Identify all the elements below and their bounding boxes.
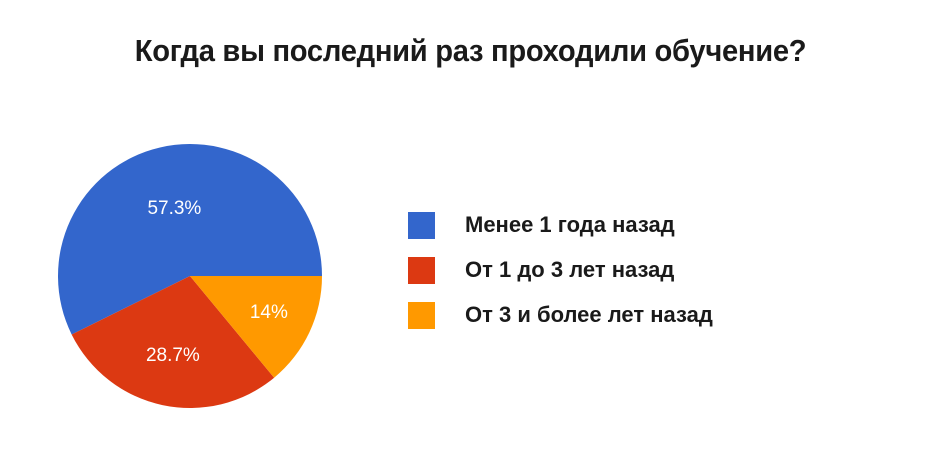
legend-swatch-red bbox=[408, 257, 435, 284]
chart-legend: Менее 1 года назад От 1 до 3 лет назад О… bbox=[408, 210, 713, 330]
legend-item-less-than-1-year[interactable]: Менее 1 года назад bbox=[408, 210, 713, 240]
pie-label-blue: 57.3% bbox=[147, 198, 201, 219]
legend-label-3-or-more-years: От 3 и более лет назад bbox=[465, 302, 713, 328]
pie-label-orange: 14% bbox=[250, 302, 288, 323]
legend-item-1-to-3-years[interactable]: От 1 до 3 лет назад bbox=[408, 255, 713, 285]
page-title: Когда вы последний раз проходили обучени… bbox=[28, 33, 913, 69]
legend-label-1-to-3-years: От 1 до 3 лет назад bbox=[465, 257, 674, 283]
pie-slices bbox=[58, 144, 322, 408]
legend-swatch-orange bbox=[408, 302, 435, 329]
pie-label-red: 28.7% bbox=[146, 345, 200, 366]
pie-chart-svg: 57.3% 28.7% 14% bbox=[58, 144, 322, 408]
chart-page: Когда вы последний раз проходили обучени… bbox=[0, 0, 941, 462]
legend-label-less-than-1-year: Менее 1 года назад bbox=[465, 212, 675, 238]
pie-chart: 57.3% 28.7% 14% bbox=[58, 144, 322, 408]
legend-item-3-or-more-years[interactable]: От 3 и более лет назад bbox=[408, 300, 713, 330]
legend-swatch-blue bbox=[408, 212, 435, 239]
